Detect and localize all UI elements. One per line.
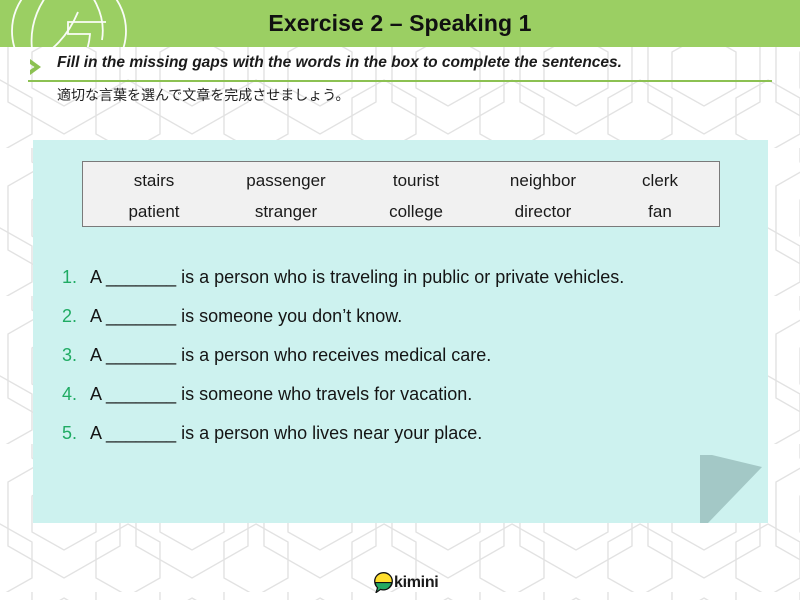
chevron-right-icon bbox=[28, 58, 46, 76]
word-bank-item: neighbor bbox=[476, 171, 610, 191]
word-bank-item: stranger bbox=[216, 202, 356, 222]
question-number: 3. bbox=[62, 343, 90, 368]
question-list: 1. A _______ is a person who is travelin… bbox=[62, 265, 752, 460]
footer-brand-name: kimini bbox=[394, 574, 438, 592]
instruction-text-english: Fill in the missing gaps with the words … bbox=[57, 54, 777, 72]
word-bank-item: tourist bbox=[356, 171, 476, 191]
question-item: 3. A _______ is a person who receives me… bbox=[62, 343, 752, 368]
question-number: 1. bbox=[62, 265, 90, 290]
word-bank-item: fan bbox=[610, 202, 710, 222]
kimini-drop-logo-icon bbox=[374, 572, 393, 593]
instruction-block: Fill in the missing gaps with the words … bbox=[0, 47, 800, 122]
question-text: A _______ is someone you don’t know. bbox=[90, 304, 730, 329]
question-item: 5. A _______ is a person who lives near … bbox=[62, 421, 752, 446]
question-text: A _______ is a person who receives medic… bbox=[90, 343, 730, 368]
question-text: A _______ is someone who travels for vac… bbox=[90, 382, 730, 407]
question-number: 5. bbox=[62, 421, 90, 446]
question-text: A _______ is a person who lives near you… bbox=[90, 421, 730, 446]
question-number: 4. bbox=[62, 382, 90, 407]
instruction-text-japanese: 適切な言葉を選んで文章を完成させましょう。 bbox=[57, 85, 349, 105]
page-title: Exercise 2 – Speaking 1 bbox=[0, 0, 800, 47]
question-item: 2. A _______ is someone you don’t know. bbox=[62, 304, 752, 329]
word-bank-item: patient bbox=[92, 202, 216, 222]
word-bank-row: stairs passenger tourist neighbor clerk bbox=[83, 162, 719, 196]
word-bank-row: patient stranger college director fan bbox=[83, 196, 719, 227]
speech-bubble-tail bbox=[700, 455, 762, 525]
word-bank-item: stairs bbox=[92, 171, 216, 191]
question-number: 2. bbox=[62, 304, 90, 329]
question-item: 4. A _______ is someone who travels for … bbox=[62, 382, 752, 407]
word-bank-box: stairs passenger tourist neighbor clerk … bbox=[82, 161, 720, 227]
word-bank-item: director bbox=[476, 202, 610, 222]
footer-brand-logo: kimini bbox=[374, 572, 438, 593]
question-text: A _______ is a person who is traveling i… bbox=[90, 265, 730, 290]
word-bank-item: clerk bbox=[610, 171, 710, 191]
instruction-underline bbox=[28, 80, 772, 82]
word-bank-item: passenger bbox=[216, 171, 356, 191]
question-item: 1. A _______ is a person who is travelin… bbox=[62, 265, 752, 290]
word-bank-item: college bbox=[356, 202, 476, 222]
